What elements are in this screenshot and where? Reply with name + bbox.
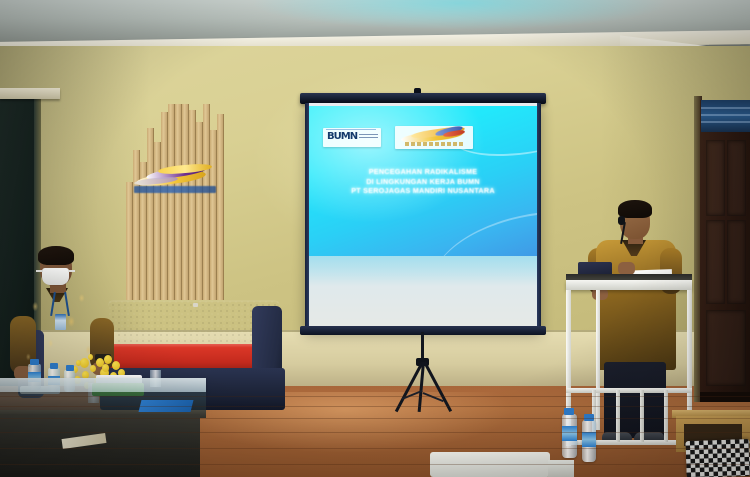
water-bottle-cap <box>66 365 74 371</box>
photo-scene: BUMN PENCEGAHAN RADIKALISME DI LINGKUNGA… <box>0 0 750 477</box>
right-door-panel <box>706 310 746 386</box>
flower-petal <box>102 364 109 372</box>
glass-coffee-table-base <box>0 414 200 477</box>
flower-petal <box>90 365 96 372</box>
floor-plank-seam <box>0 464 750 465</box>
floor-plank-seam <box>0 448 750 449</box>
seated-man-mask-strap <box>68 270 75 272</box>
seated-man-face-mask <box>42 268 69 285</box>
speaker-trousers <box>604 362 666 438</box>
flower-petal <box>76 360 81 366</box>
wooden-slat <box>161 112 168 300</box>
white-object-on-floor <box>548 460 574 477</box>
bumn-logo-text: BUMN <box>327 132 357 142</box>
podium-vertical-bar <box>616 390 620 442</box>
wooden-slat <box>217 114 224 300</box>
floor-plank-seam <box>0 396 750 397</box>
wooden-slat <box>203 104 210 300</box>
slide-title-line-3: PT SEROJAGAS MANDIRI NUSANTARA <box>309 186 537 196</box>
floor-plank-seam <box>0 418 750 419</box>
water-bottle-cap <box>30 359 39 365</box>
flower-petal <box>88 354 93 360</box>
seated-man-hair <box>38 246 74 265</box>
right-door-panel <box>727 220 746 304</box>
podium-vertical-bar <box>664 390 668 442</box>
right-door-transom-window <box>701 100 750 132</box>
wooden-slat <box>126 182 133 300</box>
checkered-floor-cushion <box>685 439 750 477</box>
projection-screen-sheen <box>309 256 537 286</box>
wooden-slat <box>147 128 154 300</box>
water-bottle-cap <box>50 363 58 369</box>
floor-plank-seam <box>0 406 750 407</box>
podium-vertical-bar <box>640 390 644 442</box>
slide-title-line-2: DI LINGKUNGAN KERJA BUMN <box>309 177 537 187</box>
flower-petal <box>80 358 89 368</box>
bumn-logo: BUMN <box>323 128 381 147</box>
wall-logo-caption <box>134 186 216 193</box>
seated-man-id-badge <box>55 314 66 330</box>
wooden-slat <box>175 104 182 300</box>
pegadaian-swoosh-logo <box>395 126 473 149</box>
glass-coffee-table-top <box>0 378 206 392</box>
left-doorway-header <box>0 88 60 99</box>
sofa-red-cushion <box>108 344 258 370</box>
right-door-threshold <box>700 392 750 402</box>
sofa-tag <box>193 303 198 307</box>
wooden-slat <box>196 122 203 300</box>
screen-edge-right <box>537 103 541 331</box>
wooden-slat <box>182 104 189 300</box>
bumn-logo-subtext <box>359 134 378 140</box>
floor-water-bottle-label <box>562 426 577 441</box>
slide-title-line-1: PENCEGAHAN RADIKALISME <box>309 167 537 177</box>
wooden-slat <box>168 104 175 300</box>
podium-leg <box>596 290 600 430</box>
wooden-slat-panel <box>126 104 224 300</box>
slide-title: PENCEGAHAN RADIKALISME DI LINGKUNGAN KER… <box>309 167 537 196</box>
right-door-panel <box>706 220 725 304</box>
ceiling-light-tint <box>250 0 670 30</box>
wooden-slat <box>210 130 217 300</box>
floor-water-bottle-cap <box>564 408 574 415</box>
floor-water-bottle-label <box>582 432 596 447</box>
screen-edge-left <box>305 103 309 331</box>
right-door-panel <box>727 140 746 216</box>
microphone-icon <box>618 216 625 225</box>
pegadaian-logo-caption <box>405 142 463 146</box>
podium-top-surface <box>566 280 692 290</box>
right-door-panel <box>706 140 725 216</box>
presentation-slide: BUMN PENCEGAHAN RADIKALISME DI LINGKUNGA… <box>309 106 537 256</box>
floor-plank-seam <box>0 432 750 433</box>
flower-petal <box>104 355 112 364</box>
wooden-slat <box>189 110 196 300</box>
podium-rail <box>566 388 692 393</box>
seated-man-mask-strap <box>36 270 43 272</box>
